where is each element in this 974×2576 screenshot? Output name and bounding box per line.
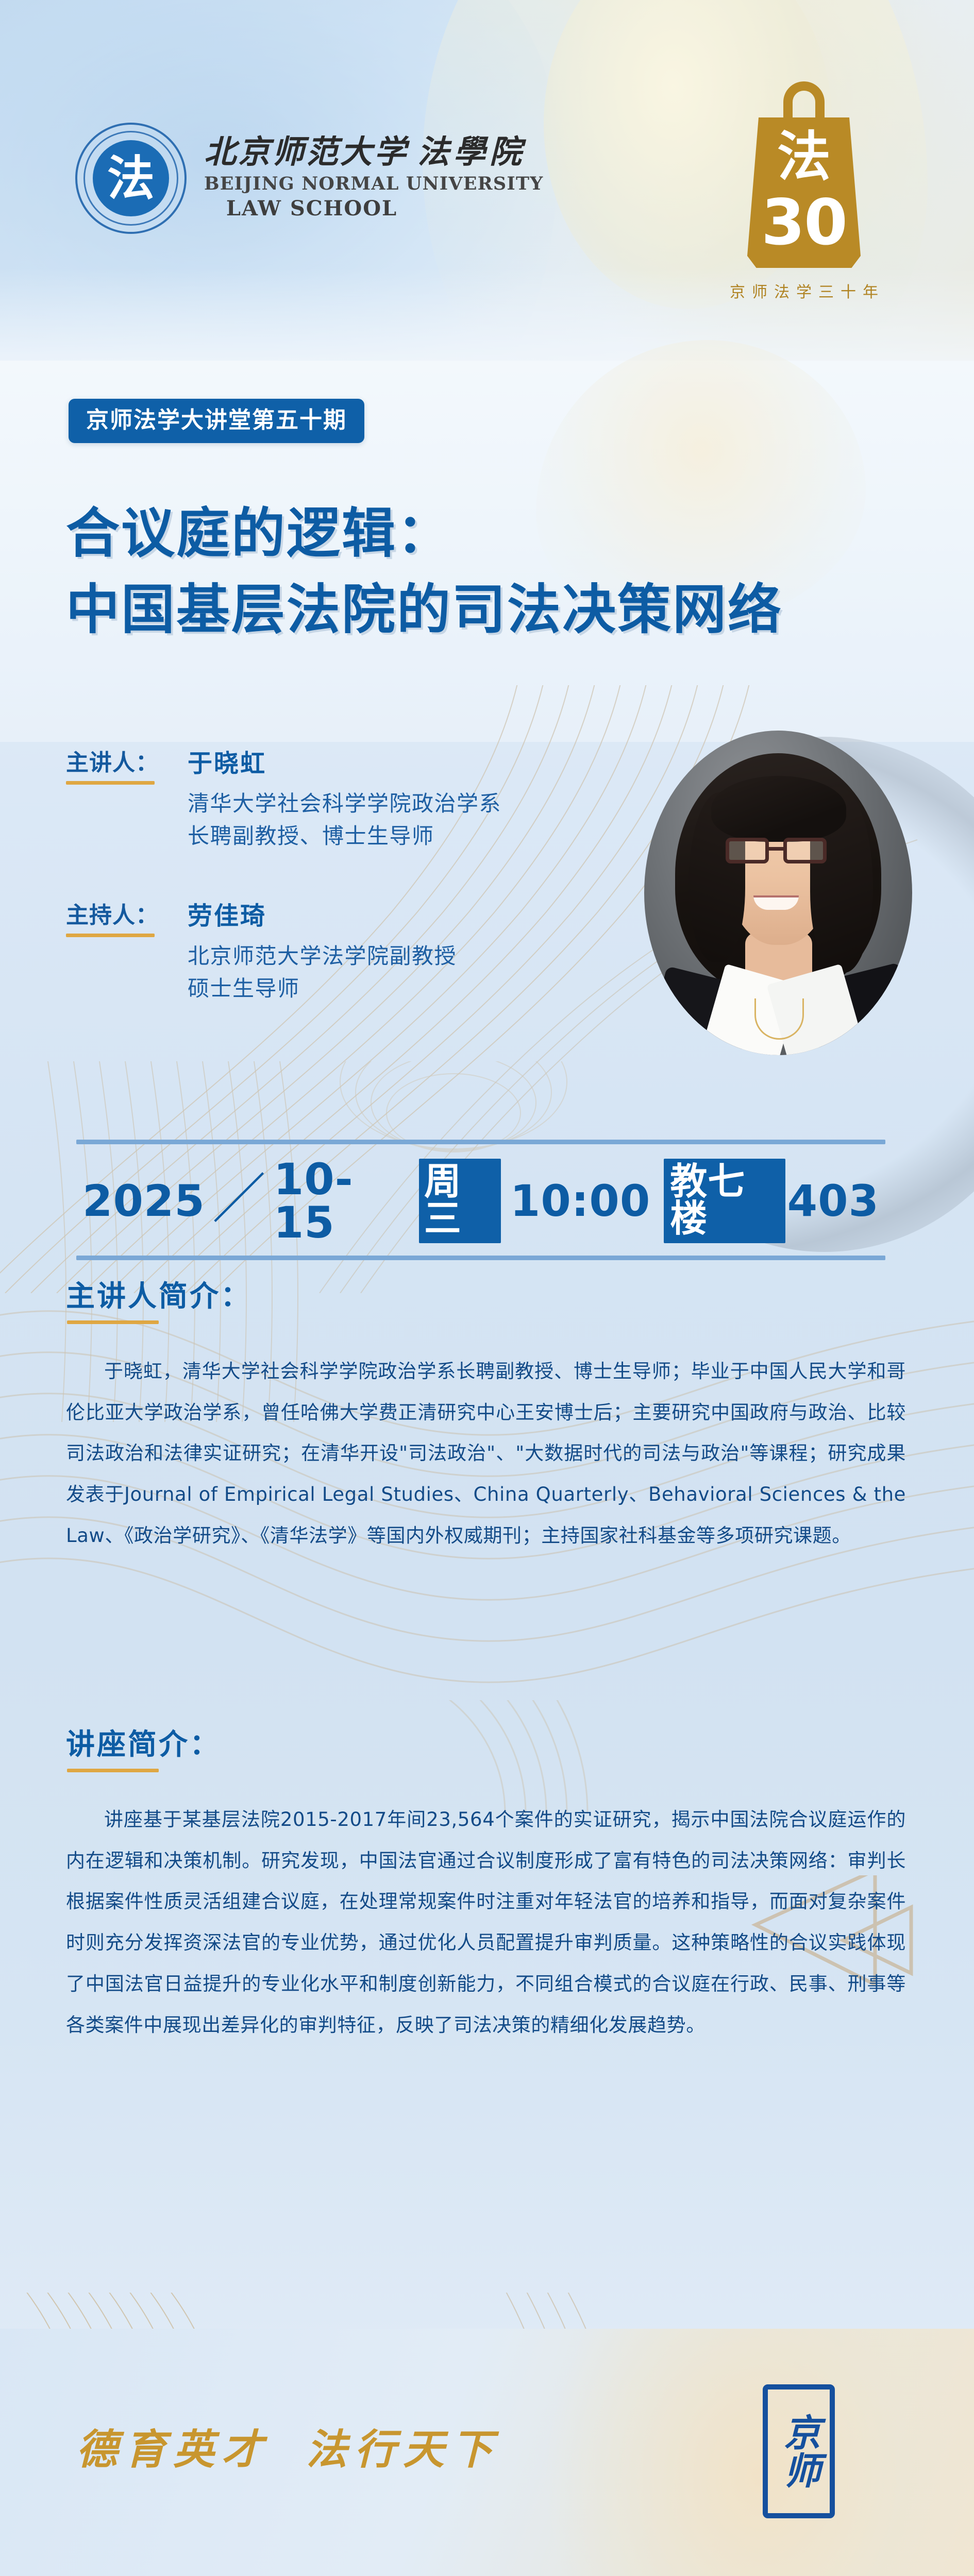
lecture-abstract-heading: 讲座简介：: [66, 1729, 221, 1772]
event-separator: ／: [212, 1172, 266, 1226]
speaker-info: 于晓虹 清华大学社会科学学院政治学系 长聘副教授、博士生导师: [188, 750, 501, 852]
host-role-underline: [66, 934, 155, 937]
law-school-seal-icon: 法: [75, 123, 187, 234]
glasses-icon: [726, 838, 833, 865]
lecture-abstract-heading-underline: [67, 1769, 159, 1772]
host-role-text: 主持人：: [66, 902, 159, 928]
speaker-portrait-photo: [644, 731, 912, 1055]
anniversary-caption: 京师法学三十年: [711, 279, 897, 302]
wordmark-en-school: LAW SCHOOL: [204, 196, 419, 222]
title-line-1: 合议庭的逻辑：: [66, 502, 452, 565]
bell-character: 法: [758, 127, 850, 187]
speaker-bio-heading: 主讲人简介：: [66, 1281, 251, 1324]
lecture-abstract-heading-text: 讲座简介：: [66, 1728, 221, 1761]
speaker-name: 于晓虹: [188, 750, 501, 778]
host-name: 劳佳琦: [188, 903, 457, 930]
event-year: 2025: [82, 1179, 205, 1223]
motto-left: 德育英才: [76, 2425, 270, 2473]
wordmark-chinese: 北京师范大学法學院: [204, 135, 543, 168]
school-motto: 德育英才法行天下: [76, 2416, 500, 2476]
event-details-row: 2025 ／ 10-15 周三 10:00 教七楼 403: [76, 1144, 885, 1256]
wordmark-cn-school: 法學院: [417, 133, 526, 171]
bell-seal-icon: 法 30: [740, 77, 868, 268]
event-details-bar: 2025 ／ 10-15 周三 10:00 教七楼 403: [76, 1140, 885, 1260]
speaker-role-underline: [66, 781, 155, 785]
event-time: 10:00: [510, 1179, 650, 1223]
host-affiliation-line-1: 北京师范大学法学院副教授: [188, 940, 457, 972]
host-affiliation-line-2: 硕士生导师: [188, 972, 457, 1005]
jingshi-stamp-icon: 京师: [763, 2384, 835, 2518]
title-line-2: 中国基层法院的司法决策网络: [66, 572, 932, 648]
wordmark: 北京师范大学法學院 BEIJING NORMAL UNIVERSITY LAW …: [204, 135, 543, 222]
series-badge: 京师法学大讲堂第五十期: [69, 399, 364, 443]
stamp-text: 京师: [780, 2413, 818, 2489]
wordmark-cn-university: 北京师范大学: [204, 133, 408, 171]
anniversary-emblem: 法 30 京师法学三十年: [711, 77, 897, 302]
page-title: 合议庭的逻辑： 中国基层法院的司法决策网络: [66, 496, 932, 648]
speaker-bio-body: 于晓虹，清华大学社会科学学院政治学系长聘副教授、博士生导师；毕业于中国人民大学和…: [66, 1351, 906, 1557]
speaker-role-text: 主讲人：: [66, 750, 159, 776]
event-building-chip: 教七楼: [664, 1159, 785, 1243]
speaker-role-label: 主讲人：: [66, 750, 164, 776]
poster-footer: 德育英才法行天下 京师: [0, 2329, 974, 2576]
speaker-bio-section: 主讲人简介： 于晓虹，清华大学社会科学学院政治学系长聘副教授、博士生导师；毕业于…: [66, 1281, 906, 1556]
datebar-bottom-rule: [76, 1256, 885, 1260]
speaker-bio-heading-text: 主讲人简介：: [66, 1280, 251, 1313]
poster-header: 法 北京师范大学法學院 BEIJING NORMAL UNIVERSITY LA…: [0, 0, 974, 392]
event-room: 403: [787, 1179, 879, 1223]
speaker-affiliation-line-2: 长聘副教授、博士生导师: [188, 820, 501, 852]
host-entry: 主持人： 劳佳琦 北京师范大学法学院副教授 硕士生导师: [66, 903, 457, 1005]
poster-root: 法 北京师范大学法學院 BEIJING NORMAL UNIVERSITY LA…: [0, 0, 974, 2576]
host-role-label: 主持人：: [66, 903, 164, 929]
event-month-day: 10-15: [274, 1158, 410, 1244]
wordmark-en-university: BEIJING NORMAL UNIVERSITY: [204, 173, 543, 195]
motto-right: 法行天下: [306, 2425, 500, 2473]
lecture-abstract-section: 讲座简介： 讲座基于某基层法院2015-2017年间23,564个案件的实证研究…: [66, 1729, 906, 2046]
host-info: 劳佳琦 北京师范大学法学院副教授 硕士生导师: [188, 903, 457, 1005]
bell-number: 30: [758, 189, 850, 257]
lecture-abstract-body: 讲座基于某基层法院2015-2017年间23,564个案件的实证研究，揭示中国法…: [66, 1799, 906, 2046]
university-brand-lockup: 法 北京师范大学法學院 BEIJING NORMAL UNIVERSITY LA…: [75, 123, 543, 234]
seal-glyph: 法: [93, 140, 169, 216]
datebar-top-rule: [76, 1140, 885, 1144]
speaker-bio-heading-underline: [67, 1320, 159, 1324]
event-weekday-chip: 周三: [419, 1159, 501, 1243]
speaker-entry: 主讲人： 于晓虹 清华大学社会科学学院政治学系 长聘副教授、博士生导师: [66, 750, 501, 852]
speaker-affiliation-line-1: 清华大学社会科学学院政治学系: [188, 787, 501, 820]
